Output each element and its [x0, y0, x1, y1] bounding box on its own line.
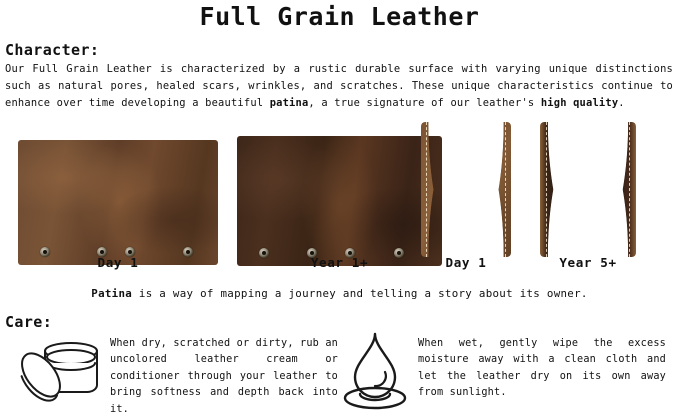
caption-wallet-year1: Year 1+: [237, 255, 442, 271]
water-drop-icon: [338, 328, 412, 414]
section-heading-character: Character:: [5, 41, 99, 59]
character-bold-high-quality: high quality: [541, 97, 618, 109]
stitch-line: [426, 122, 427, 257]
character-bold-patina: patina: [270, 97, 309, 109]
photo-sleeve-day1: [421, 122, 511, 257]
section-heading-care: Care:: [5, 313, 52, 331]
character-paragraph-part3: .: [618, 97, 624, 109]
care-text-dry: When dry, scratched or dirty, rub an unc…: [110, 336, 338, 418]
caption-sleeve-year5: Year 5+: [540, 255, 636, 271]
caption-wallet-day1: Day 1: [18, 255, 218, 271]
stitch-line: [629, 122, 630, 257]
patina-statement: Patina is a way of mapping a journey and…: [0, 286, 679, 302]
cream-jar-icon: [12, 332, 104, 412]
stitch-line: [505, 122, 506, 257]
leather-photo-strip: [0, 122, 679, 257]
leather-info-page: Full Grain Leather Character: Our Full G…: [0, 0, 679, 420]
photo-wallet-year1: [237, 136, 442, 266]
patina-bold-word: Patina: [91, 287, 132, 300]
photo-sleeve-year5: [540, 122, 636, 257]
stitch-line: [546, 122, 547, 257]
character-paragraph-part2: , a true signature of our leather's: [308, 97, 540, 109]
care-text-wet: When wet, gently wipe the excess moistur…: [418, 336, 666, 402]
patina-rest: is a way of mapping a journey and tellin…: [132, 287, 588, 300]
photo-wallet-day1: [18, 140, 218, 265]
character-paragraph: Our Full Grain Leather is characterized …: [5, 61, 673, 113]
page-title: Full Grain Leather: [0, 2, 679, 32]
caption-sleeve-day1: Day 1: [421, 255, 511, 271]
